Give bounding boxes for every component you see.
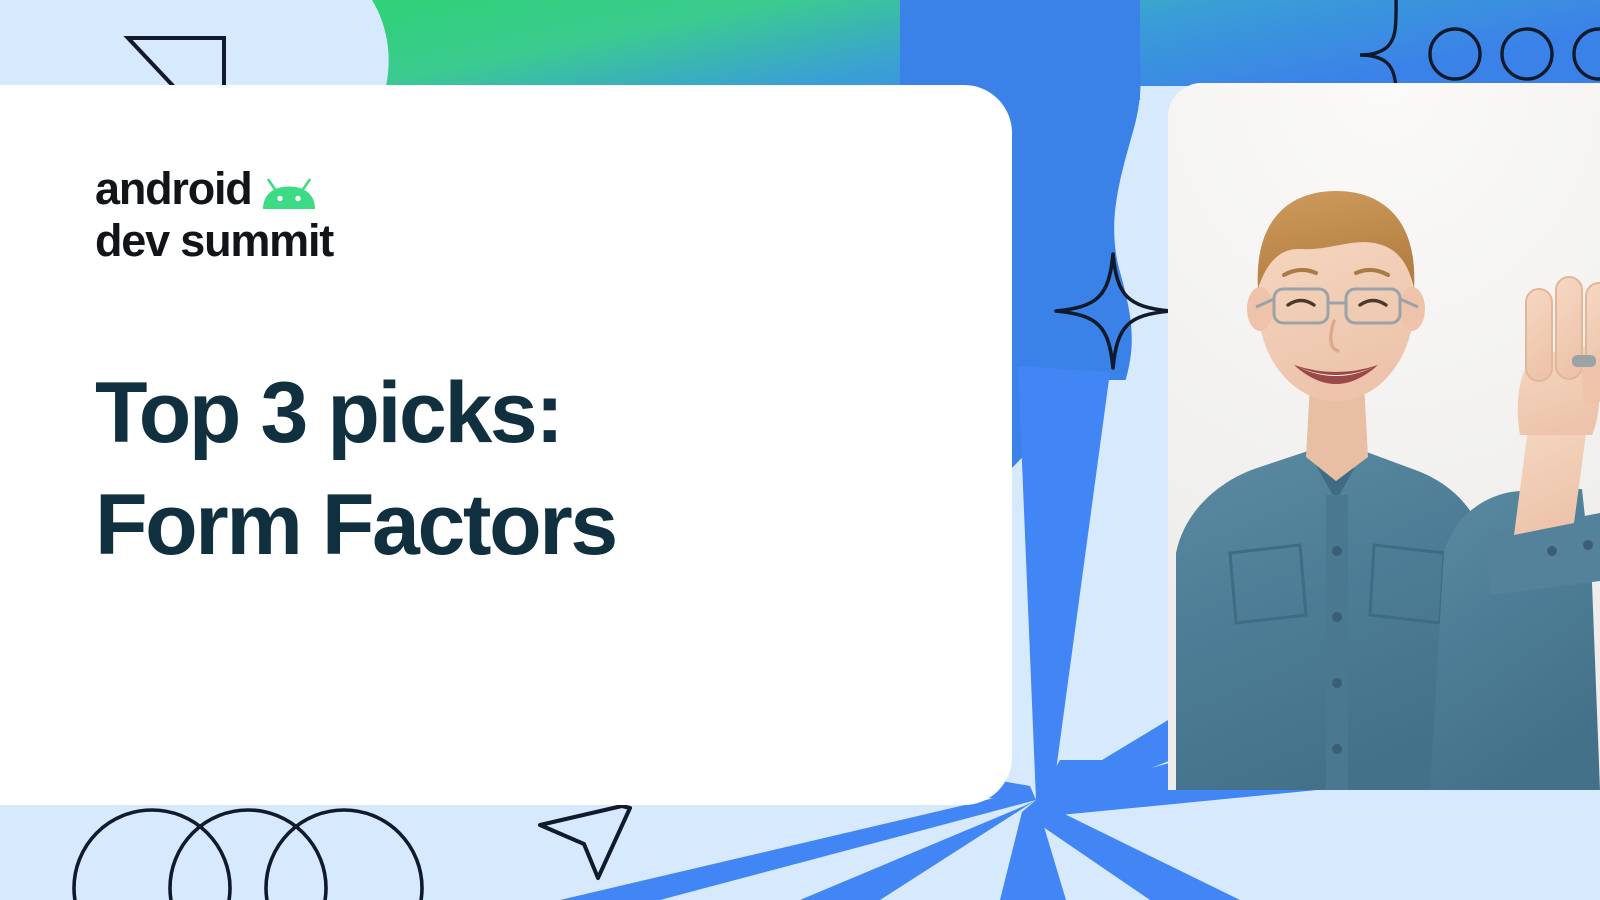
- presenter-ear-right: [1399, 287, 1425, 331]
- page-title: Top 3 picks: Form Factors: [95, 357, 616, 581]
- android-robot-icon: [262, 178, 316, 209]
- presenter-tucked-finger: [1582, 368, 1600, 405]
- presenter-video: [1168, 83, 1600, 790]
- slide-root: android dev summit Top 3 picks: [0, 0, 1600, 900]
- logo-line-2: dev summit: [95, 215, 333, 267]
- logo-line-1-row: android: [95, 163, 333, 215]
- presenter-ear-left: [1247, 287, 1273, 331]
- presenter-figure: [1168, 83, 1600, 790]
- headline-line-1: Top 3 picks:: [95, 365, 562, 461]
- headline-line-2: Form Factors: [95, 469, 616, 581]
- presenter-ring: [1572, 355, 1596, 367]
- content-card: android dev summit Top 3 picks: [0, 85, 1012, 805]
- android-dev-summit-logo: android dev summit: [95, 163, 333, 267]
- logo-line-1: android: [95, 163, 252, 215]
